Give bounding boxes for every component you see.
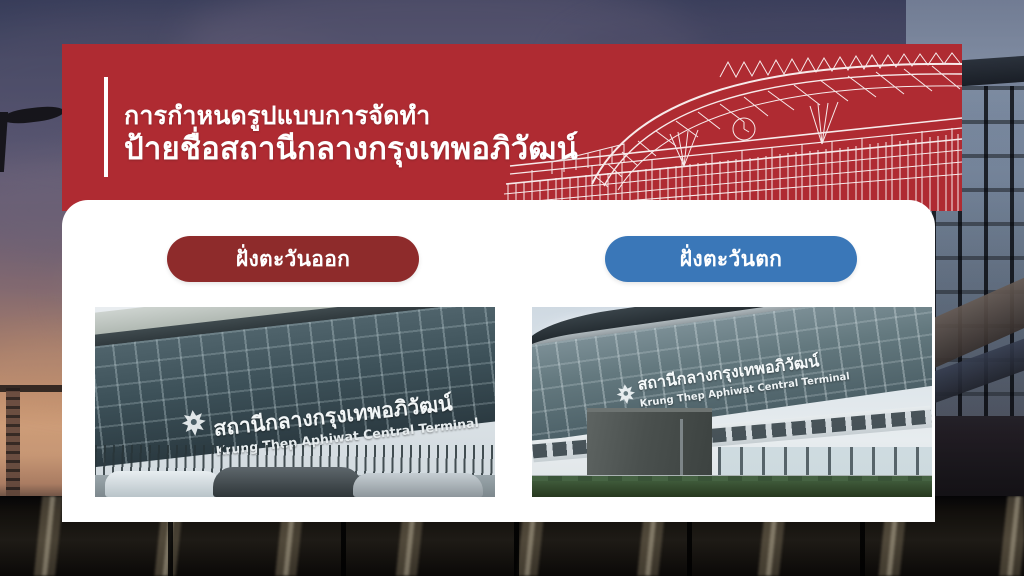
photo-west-side[interactable]: สถานีกลางกรุงเทพอภิวัฒน์ Krung Thep Aphi… [532, 307, 932, 497]
hedge-row [532, 481, 932, 497]
header-band: การกำหนดรูปแบบการจัดทำ ป้ายชื่อสถานีกลาง… [62, 44, 962, 211]
parked-car [353, 473, 483, 497]
srt-garuda-emblem-icon [615, 382, 638, 408]
srt-garuda-emblem-icon [180, 408, 209, 441]
photo-east-side[interactable]: สถานีกลางกรุงเทพอภิวัฒน์ Krung Thep Aphi… [95, 307, 495, 497]
tab-west-side[interactable]: ฝั่งตะวันตก [605, 236, 857, 282]
page-title: การกำหนดรูปแบบการจัดทำ ป้ายชื่อสถานีกลาง… [124, 102, 578, 167]
light-pole [680, 419, 683, 475]
title-line-1: การกำหนดรูปแบบการจัดทำ [124, 102, 578, 131]
utility-block [587, 412, 712, 484]
tab-east-side[interactable]: ฝั่งตะวันออก [167, 236, 419, 282]
tab-east-side-label: ฝั่งตะวันออก [236, 243, 350, 276]
title-accent-bar [104, 77, 108, 177]
parked-car [213, 467, 363, 497]
tab-west-side-label: ฝั่งตะวันตก [680, 243, 782, 276]
slide-stage: การกำหนดรูปแบบการจัดทำ ป้ายชื่อสถานีกลาง… [0, 0, 1024, 576]
side-selector-row: ฝั่งตะวันออก ฝั่งตะวันตก [62, 236, 935, 282]
title-line-2: ป้ายชื่อสถานีกลางกรุงเทพอภิวัฒน์ [124, 132, 578, 167]
content-card: ฝั่งตะวันออก ฝั่งตะวันตก [62, 200, 935, 522]
parked-car [105, 471, 223, 497]
